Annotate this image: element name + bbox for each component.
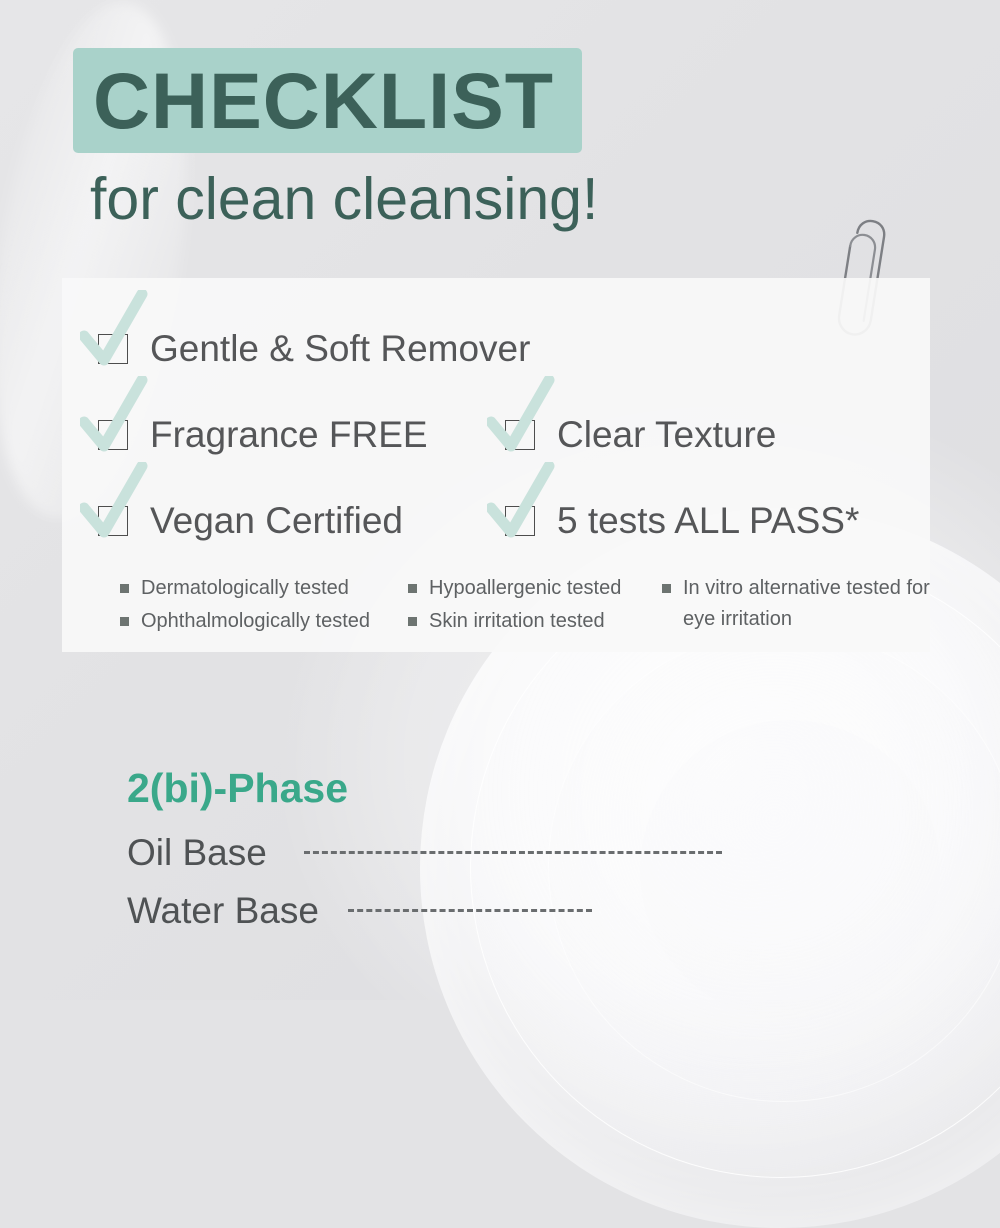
page-title: CHECKLIST — [93, 53, 613, 149]
check-mark-icon — [80, 376, 150, 458]
checklist-item-vegan-certified[interactable]: Vegan Certified — [98, 500, 403, 542]
bullet-icon — [408, 584, 417, 593]
checklist-item-fragrance-free[interactable]: Fragrance FREE — [98, 414, 428, 456]
phase-label: Oil Base — [127, 830, 267, 876]
checklist-item-gentle-soft-remover[interactable]: Gentle & Soft Remover — [98, 328, 530, 370]
bullet-icon — [120, 584, 129, 593]
phase-dashed-line-water — [348, 909, 592, 912]
phase-dashed-line-oil — [304, 851, 722, 854]
checkbox-checked[interactable] — [98, 420, 128, 450]
test-list-item: Skin irritation tested — [408, 606, 605, 637]
page-subtitle: for clean cleansing! — [90, 163, 790, 235]
checkbox-checked[interactable] — [98, 334, 128, 364]
bullet-icon — [408, 617, 417, 626]
checklist-item-label: Fragrance FREE — [150, 414, 428, 456]
test-list-item: In vitro alternative tested for eye irri… — [662, 573, 953, 635]
checklist-item-5-tests-all-pass[interactable]: 5 tests ALL PASS* — [505, 500, 859, 542]
check-mark-icon — [80, 462, 150, 544]
test-label: In vitro alternative tested for eye irri… — [683, 573, 953, 635]
checkbox-checked[interactable] — [98, 506, 128, 536]
test-label: Skin irritation tested — [429, 606, 605, 637]
checklist-item-label: Clear Texture — [557, 414, 776, 456]
checklist-item-clear-texture[interactable]: Clear Texture — [505, 414, 776, 456]
promo-graphic: CHECKLIST for clean cleansing! Gentle & … — [0, 0, 1000, 1000]
background-dish-core — [640, 720, 940, 1020]
bullet-icon — [120, 617, 129, 626]
test-label: Dermatologically tested — [141, 573, 349, 604]
checklist-item-label: Vegan Certified — [150, 500, 403, 542]
bullet-icon — [662, 584, 671, 593]
phase-label: Water Base — [127, 888, 319, 934]
test-label: Ophthalmologically tested — [141, 606, 370, 637]
test-list-item: Dermatologically tested — [120, 573, 349, 604]
checkbox-checked[interactable] — [505, 506, 535, 536]
test-list-item: Ophthalmologically tested — [120, 606, 370, 637]
phase-row-oil-base: Oil Base — [127, 830, 267, 876]
checklist-item-label: Gentle & Soft Remover — [150, 328, 530, 370]
checkbox-checked[interactable] — [505, 420, 535, 450]
check-mark-icon — [487, 462, 557, 544]
background-dish-inner — [548, 630, 1000, 1102]
test-list-item: Hypoallergenic tested — [408, 573, 621, 604]
check-mark-icon — [487, 376, 557, 458]
check-mark-icon — [80, 290, 150, 372]
phase-row-water-base: Water Base — [127, 888, 319, 934]
test-label: Hypoallergenic tested — [429, 573, 621, 604]
phase-heading: 2(bi)-Phase — [127, 762, 348, 814]
checklist-item-label: 5 tests ALL PASS* — [557, 500, 859, 542]
